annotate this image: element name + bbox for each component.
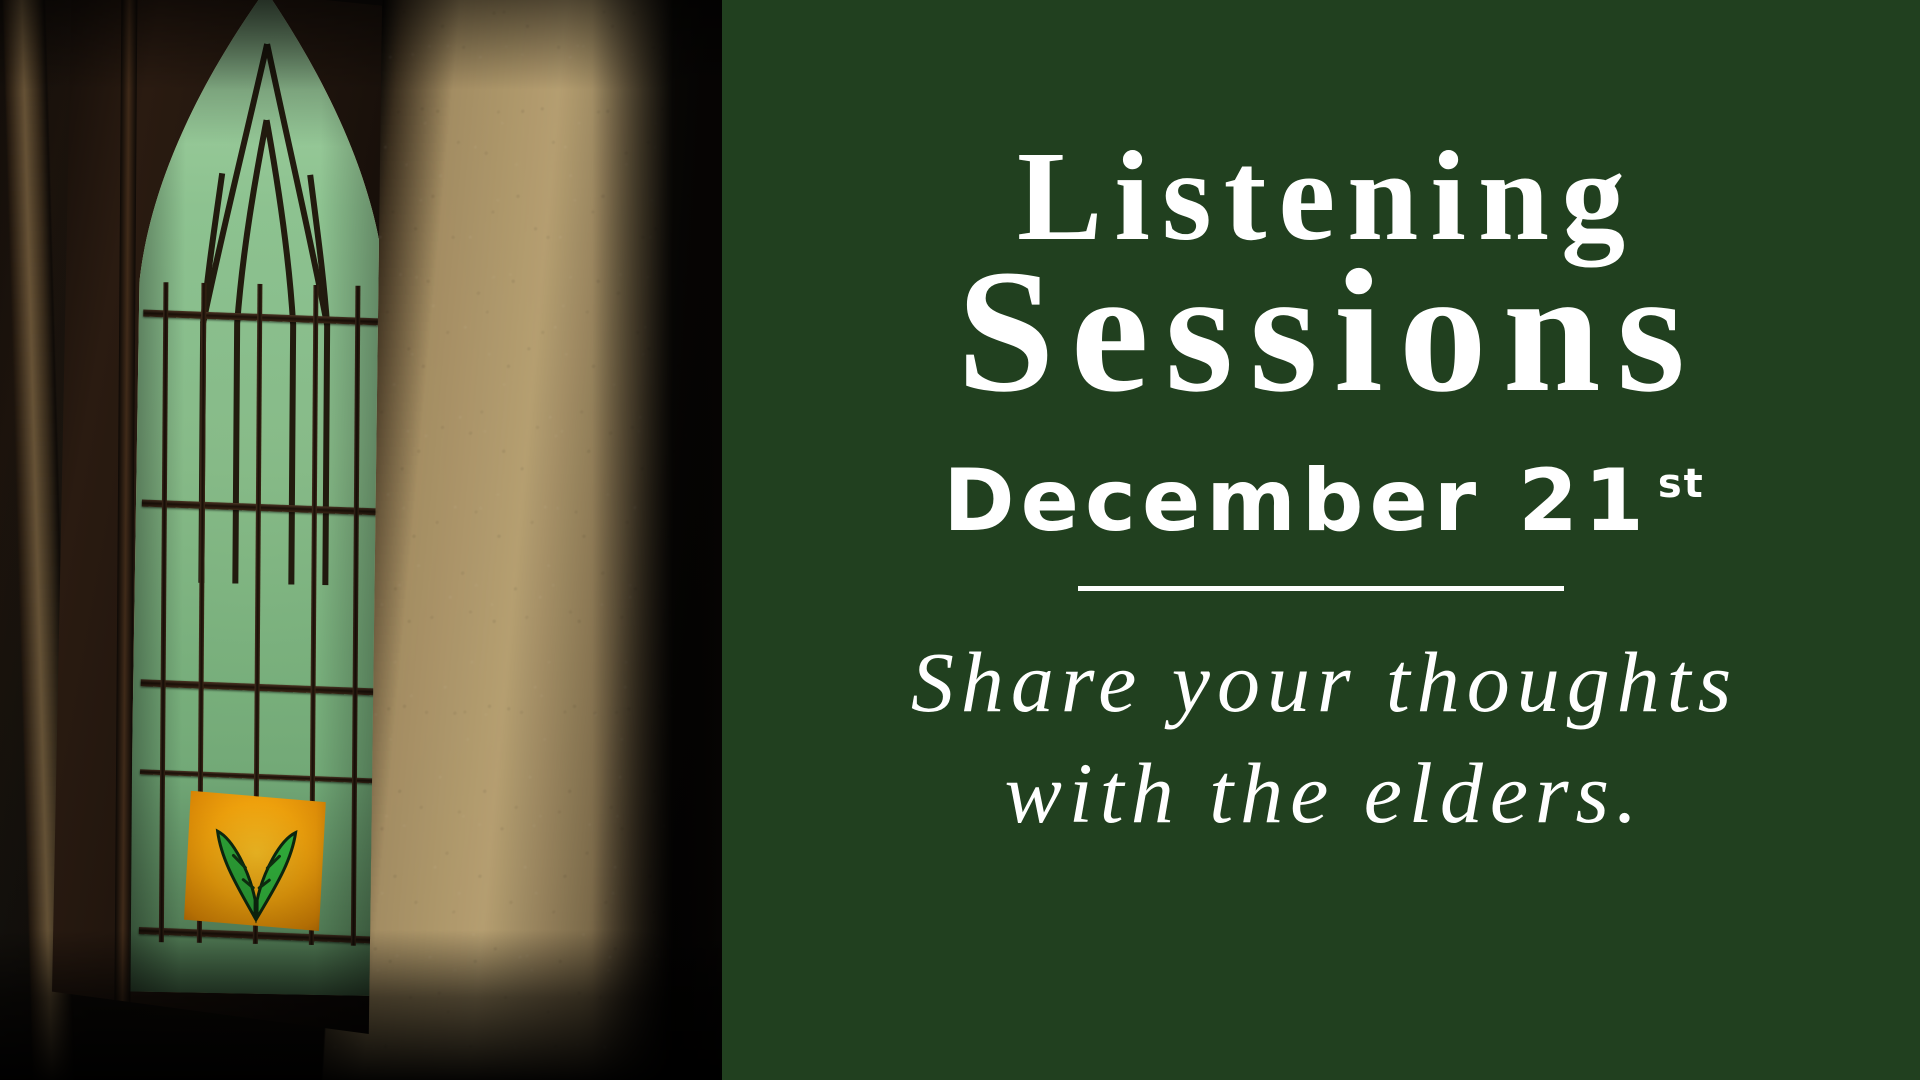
headline-line-2: Sessions	[941, 246, 1701, 418]
tagline: Share your thoughts with the elders.	[904, 627, 1738, 847]
tagline-line-2: with the elders.	[904, 738, 1738, 848]
tagline-line-1: Share your thoughts	[904, 627, 1738, 737]
horizontal-divider	[1078, 586, 1564, 591]
text-content-block: Listening Sessions December 21st Share y…	[722, 0, 1920, 1080]
window-glass-assembly	[118, 0, 405, 997]
stained-glass-window-photo	[0, 0, 722, 1080]
top-shadow	[0, 0, 722, 90]
event-date: December 21st	[937, 458, 1705, 544]
event-date-main: December 21	[937, 458, 1650, 544]
sill-shadow	[0, 930, 722, 1080]
window-wood-frame	[52, 0, 382, 1034]
wall-shadow-right	[592, 0, 722, 1080]
slide-canvas: Listening Sessions December 21st Share y…	[0, 0, 1920, 1080]
event-date-ordinal: st	[1652, 464, 1705, 504]
green-text-panel: Listening Sessions December 21st Share y…	[722, 0, 1920, 1080]
